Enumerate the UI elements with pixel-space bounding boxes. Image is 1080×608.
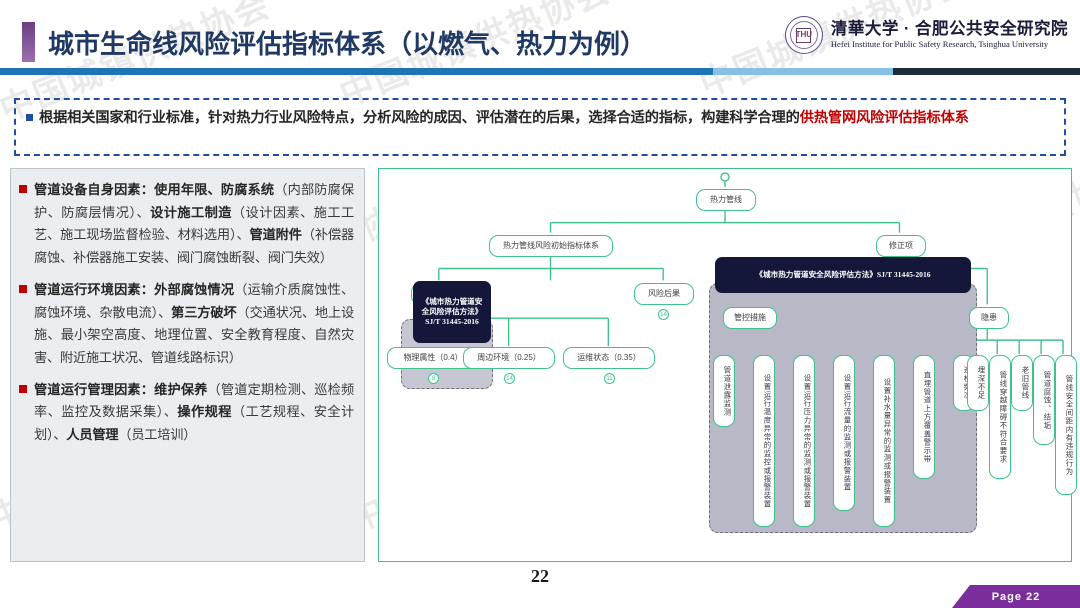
tree-node-control-1[interactable]: 设置运行温度异常的监控或报警装置: [753, 355, 775, 527]
tree-node-root[interactable]: 热力管线: [696, 189, 756, 211]
tree-node-control-2[interactable]: 设置运行压力异常的监测或报警装置: [793, 355, 815, 527]
tree-node-hazard-4[interactable]: 管线安全间距内有违规行为: [1055, 355, 1077, 495]
tree-node-hazard-0[interactable]: 埋深不足: [967, 355, 989, 411]
diagram-canvas: 热力管线 热力管线风险初始指标体系 修正项 可能性 风险后果 14 《城市热力管…: [379, 169, 1071, 561]
list-item: 管道设备自身因素：使用年限、防腐系统（内部防腐保护、防腐层情况）、设计施工制造（…: [19, 179, 354, 270]
tree-node-hazard-3[interactable]: 管道腐蚀、结垢: [1033, 355, 1055, 445]
bullet-square-icon: [26, 114, 33, 121]
tree-node-operation-status[interactable]: 运维状态（0.35）: [563, 347, 655, 369]
institute-logo: THU 清華大学 · 合肥公共安全研究院 Hefei Institute for…: [785, 16, 1068, 54]
tree-top-anchor: [721, 173, 729, 181]
bullet-square-icon: [19, 185, 27, 193]
list-item: 管道运行环境因素：外部腐蚀情况（运输介质腐蚀性、腐蚀环境、杂散电流）、第三方破坏…: [19, 279, 354, 370]
header-divider-segment-3: [893, 68, 1080, 75]
standard-label-right: 《城市热力管道安全风险评估方法》SJ/T 31445-2016: [715, 257, 971, 293]
footer-page-tab: Page 22: [952, 585, 1080, 608]
page-title: 城市生命线风险评估指标体系（以燃气、热力为例）: [48, 24, 646, 61]
logo-title-cn: 清華大学 · 合肥公共安全研究院: [831, 20, 1068, 39]
standard-label-left: 《城市热力管道安全风险评估方法》SJ/T 31445-2016: [413, 281, 491, 343]
callout-text-main: 根据相关国家和行业标准，针对热力行业风险特点，分析风险的成因、评估潜在的后果，选…: [39, 110, 800, 126]
risk-index-tree-diagram: 热力管线 热力管线风险初始指标体系 修正项 可能性 风险后果 14 《城市热力管…: [378, 168, 1072, 562]
factors-panel: 管道设备自身因素：使用年限、防腐系统（内部防腐保护、防腐层情况）、设计施工制造（…: [10, 168, 365, 562]
badge-risk-consequence: 14: [658, 309, 669, 320]
badge-surrounding-environment: 14: [504, 373, 515, 384]
tree-node-risk-consequence[interactable]: 风险后果: [634, 283, 694, 305]
badge-physical-attribute: 8: [428, 373, 439, 384]
summary-callout: 根据相关国家和行业标准，针对热力行业风险特点，分析风险的成因、评估潜在的后果，选…: [14, 98, 1066, 156]
tree-node-control-3[interactable]: 设置运行流量的监测或报警装置: [833, 355, 855, 511]
callout-text: 根据相关国家和行业标准，针对热力行业风险特点，分析风险的成因、评估潜在的后果，选…: [39, 107, 969, 129]
tree-node-control-0[interactable]: 管道泄露监测: [713, 355, 735, 427]
callout-text-emphasis: 供热管网风险评估指标体系: [800, 110, 969, 126]
page-number: 22: [0, 566, 1080, 587]
header-divider-segment-1: [0, 68, 713, 75]
logo-text-block: 清華大学 · 合肥公共安全研究院 Hefei Institute for Pub…: [831, 20, 1068, 49]
factor-text: 管道设备自身因素：使用年限、防腐系统（内部防腐保护、防腐层情况）、设计施工制造（…: [34, 179, 354, 270]
tree-node-control-measures[interactable]: 管控措施: [723, 307, 777, 329]
tree-node-hazard-1[interactable]: 管线穿越障碍不符合要求: [989, 355, 1011, 479]
bullet-square-icon: [19, 385, 27, 393]
tree-node-control-5[interactable]: 直埋管道上方覆盖警示带: [913, 355, 935, 479]
tree-node-correction-item[interactable]: 修正项: [876, 235, 926, 257]
tree-node-surrounding-environment[interactable]: 周边环境（0.25）: [463, 347, 555, 369]
tree-node-control-4[interactable]: 设置补水量异常的监测或报警装置: [873, 355, 895, 527]
slide-root: 城市生命线风险评估指标体系（以燃气、热力为例） THU 清華大学 · 合肥公共安…: [0, 0, 1080, 608]
header-divider-segment-2: [713, 68, 893, 75]
list-item: 管道运行管理因素：维护保养（管道定期检测、巡检频率、监控及数据采集）、操作规程（…: [19, 379, 354, 447]
tree-node-hazard-2[interactable]: 老旧管线: [1011, 355, 1033, 411]
factor-text: 管道运行环境因素：外部腐蚀情况（运输介质腐蚀性、腐蚀环境、杂散电流）、第三方破坏…: [34, 279, 354, 370]
header-accent-bar: [22, 22, 35, 62]
tsinghua-seal-icon: THU: [785, 16, 823, 54]
badge-operation-status: 11: [604, 373, 615, 384]
bullet-square-icon: [19, 285, 27, 293]
logo-title-en: Hefei Institute for Public Safety Resear…: [831, 39, 1068, 49]
factor-text: 管道运行管理因素：维护保养（管道定期检测、巡检频率、监控及数据采集）、操作规程（…: [34, 379, 354, 447]
tree-node-hazards[interactable]: 隐患: [969, 307, 1009, 329]
tree-node-initial-index-system[interactable]: 热力管线风险初始指标体系: [489, 235, 613, 257]
seal-inner-glyph: THU: [796, 28, 811, 43]
